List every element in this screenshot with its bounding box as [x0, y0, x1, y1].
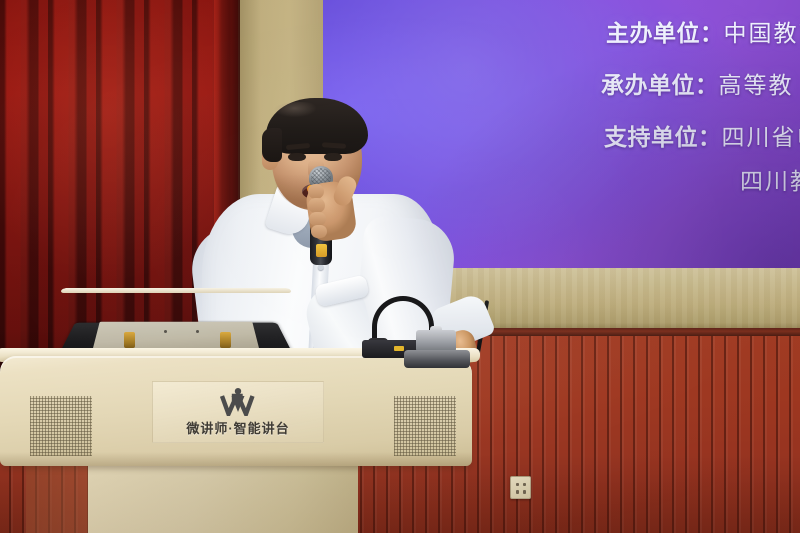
outlet-slot	[516, 490, 519, 494]
slide-line-organizer-value: 中国教育	[724, 20, 800, 46]
slide-line-support: 支持单位：四川省电	[604, 126, 800, 149]
lectern-brand-plate: 微讲师·智能讲台	[152, 381, 324, 443]
slide-line-organizer-label: 主办单位：	[606, 20, 724, 46]
slide-line-organizer: 主办单位：中国教育	[606, 22, 800, 45]
hair-sideburn	[262, 128, 282, 162]
control-unit-base	[404, 350, 470, 368]
slide-line-host-value: 高等教	[719, 72, 794, 98]
outlet-slot	[516, 483, 519, 486]
lectern-side-shadow	[26, 460, 90, 533]
outlet-slot	[523, 490, 526, 494]
monitor-top-edge	[60, 288, 292, 293]
finger	[309, 212, 326, 226]
lectern-column	[88, 460, 358, 533]
slide-line-host-label: 承办单位：	[601, 72, 719, 98]
monitor-screw	[196, 330, 199, 333]
finger	[308, 184, 324, 199]
speaker-grille-left	[30, 396, 92, 456]
control-unit-housing	[416, 330, 456, 352]
monitor-screw	[164, 330, 167, 333]
headphone-indicator	[394, 346, 404, 351]
monitor-hinge	[220, 332, 231, 348]
slide-line-support-value: 四川省电	[722, 124, 800, 150]
finger	[311, 225, 327, 238]
slide-line-host: 承办单位：高等教	[601, 74, 794, 97]
gooseneck-mic-base[interactable]	[404, 326, 470, 368]
screenshot-root: 主办单位：中国教育 承办单位：高等教 支持单位：四川省电 四川教	[0, 0, 800, 533]
wall-power-outlet[interactable]	[510, 476, 531, 499]
slide-line-support-label: 支持单位：	[604, 124, 722, 150]
eye-left	[288, 153, 306, 161]
speaker-grille-right	[394, 396, 456, 456]
slide-line-support-cont-value: 四川教	[740, 168, 800, 194]
monitor-hinge	[124, 332, 135, 348]
eye-right	[324, 153, 342, 161]
smart-lectern[interactable]: 微讲师·智能讲台	[0, 356, 484, 533]
lectern-front-panel: 微讲师·智能讲台	[0, 356, 472, 466]
lectern-brand-name: 微讲师·智能讲台	[186, 418, 289, 437]
microphone-label-sticker	[316, 244, 327, 257]
w-monogram-logo	[218, 388, 258, 416]
finger	[308, 198, 325, 213]
outlet-slot	[523, 483, 526, 486]
slide-line-support-cont: 四川教	[740, 170, 800, 193]
